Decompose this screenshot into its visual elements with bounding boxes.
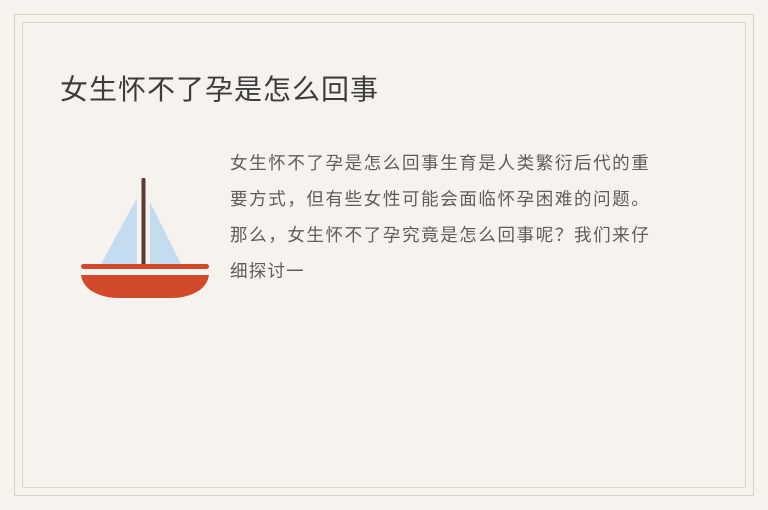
sailboat-illustration <box>60 146 230 302</box>
document-page: 女生怀不了孕是怎么回事 女生怀不了孕是怎么回事生育是人类繁衍后代的 <box>0 0 768 510</box>
sailboat-icon <box>75 172 215 302</box>
article-paragraph: 女生怀不了孕是怎么回事生育是人类繁衍后代的重要方式，但有些女性可能会面临怀孕困难… <box>230 146 674 290</box>
page-title: 女生怀不了孕是怎么回事 <box>60 72 379 108</box>
document-content: 女生怀不了孕是怎么回事 女生怀不了孕是怎么回事生育是人类繁衍后代的 <box>36 36 732 474</box>
article-body-row: 女生怀不了孕是怎么回事生育是人类繁衍后代的重要方式，但有些女性可能会面临怀孕困难… <box>60 146 722 302</box>
